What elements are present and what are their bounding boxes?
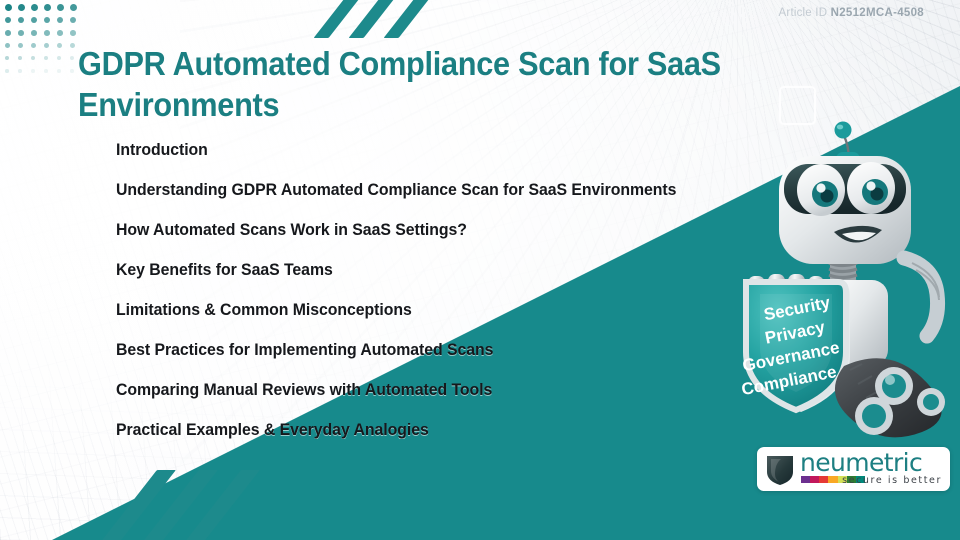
article-id-label: Article ID: [779, 7, 828, 19]
toc-item[interactable]: Key Benefits for SaaS Teams: [116, 260, 711, 281]
logo-shield-icon: [765, 452, 795, 486]
logo-wordmark: neumetric: [800, 450, 922, 476]
article-id-value: N2512MCA-4508: [831, 7, 924, 19]
diagonal-slashes-top: [330, 0, 440, 42]
logo-tagline: secure is better: [842, 475, 942, 486]
robot-antenna-ball: [835, 122, 852, 139]
article-id: Article ID N2512MCA-4508: [779, 7, 924, 19]
robot-wheel: [835, 358, 945, 437]
robot-mascot-illustration: Security Privacy Governance Compliance: [726, 108, 960, 438]
toc-item[interactable]: Limitations & Common Misconceptions: [116, 300, 711, 321]
dot-grid-decoration: [5, 4, 77, 78]
toc-item[interactable]: Comparing Manual Reviews with Automated …: [116, 380, 711, 401]
logo-text-block: neumetric secure is better: [800, 451, 942, 487]
security-shield: Security Privacy Governance Compliance: [740, 282, 850, 412]
page-title: GDPR Automated Compliance Scan for SaaS …: [78, 43, 813, 125]
slide-root: Article ID N2512MCA-4508 GDPR Automated …: [0, 0, 960, 540]
toc-item[interactable]: Best Practices for Implementing Automate…: [116, 340, 711, 361]
toc-item[interactable]: Introduction: [116, 140, 711, 161]
toc-item[interactable]: Practical Examples & Everyday Analogies: [116, 420, 711, 441]
toc-item[interactable]: How Automated Scans Work in SaaS Setting…: [116, 220, 711, 241]
diagonal-slashes-bottom: [128, 470, 268, 540]
neumetric-logo-badge[interactable]: neumetric secure is better: [757, 447, 950, 491]
toc-item[interactable]: Understanding GDPR Automated Compliance …: [116, 180, 711, 201]
table-of-contents: IntroductionUnderstanding GDPR Automated…: [116, 140, 736, 441]
robot-svg: Security Privacy Governance Compliance: [726, 108, 960, 438]
robot-arm-right: [904, 258, 938, 336]
